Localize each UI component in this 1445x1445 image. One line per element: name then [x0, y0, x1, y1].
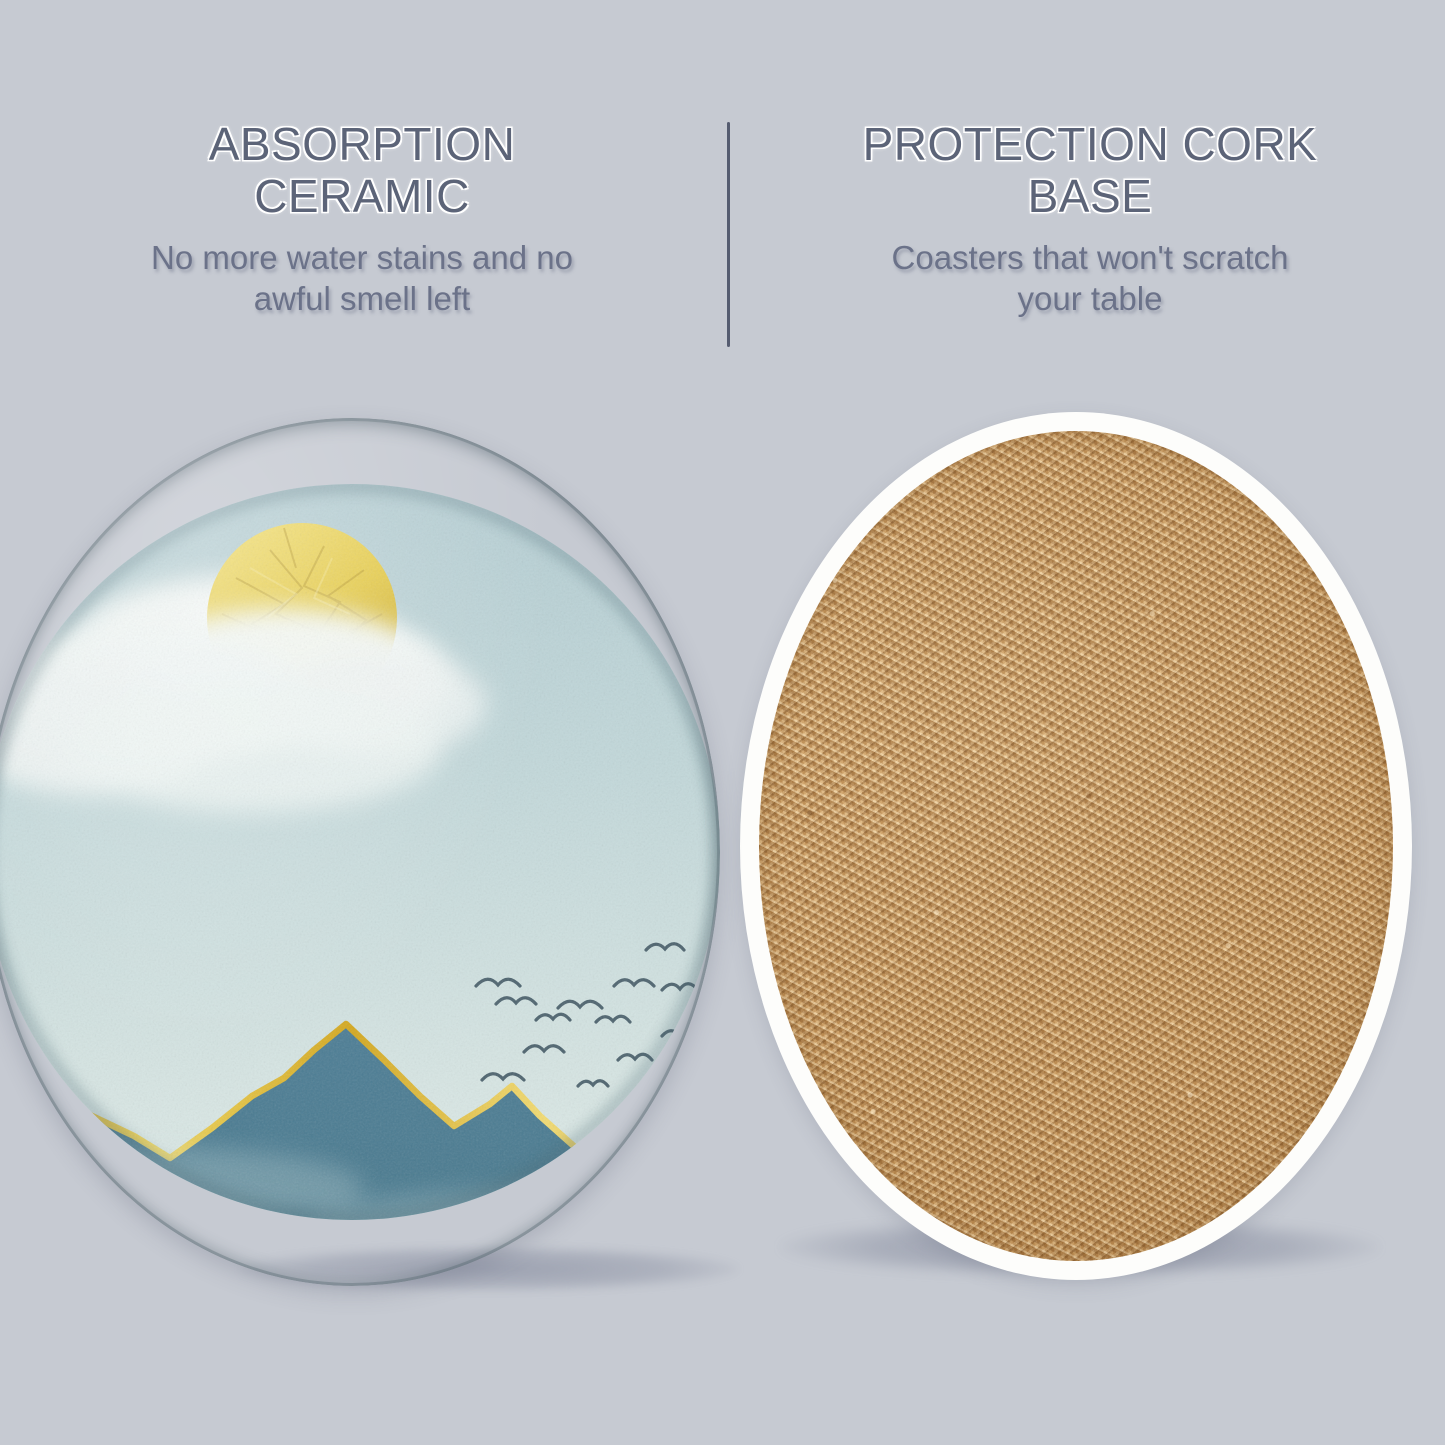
absorption-subtitle: No more water stains and no awful smell …: [62, 237, 662, 320]
vertical-divider: [727, 122, 730, 347]
protection-subtitle-line1: Coasters that won't scratch: [892, 239, 1289, 276]
ceramic-coaster-disc: [0, 418, 720, 1286]
protection-subtitle: Coasters that won't scratch your table: [790, 237, 1390, 320]
product-feature-panel: ABSORPTION CERAMIC No more water stains …: [0, 0, 1445, 1445]
artwork-clip-group: [0, 418, 720, 1286]
feature-column-protection: PROTECTION CORK BASE Coasters that won't…: [790, 118, 1390, 320]
protection-heading-line2: BASE: [1028, 170, 1153, 222]
protection-heading: PROTECTION CORK BASE: [790, 118, 1390, 223]
protection-subtitle-line2: your table: [1018, 280, 1163, 317]
absorption-subtitle-line1: No more water stains and no: [151, 239, 573, 276]
protection-heading-line1: PROTECTION CORK: [863, 118, 1318, 170]
ceramic-grain-texture: [0, 418, 720, 1286]
absorption-heading-line1: ABSORPTION: [209, 118, 516, 170]
absorption-subtitle-line2: awful smell left: [254, 280, 470, 317]
ceramic-coaster: [0, 418, 720, 1298]
mountain-landscape-artwork: [0, 418, 720, 1286]
cork-coaster: [740, 412, 1420, 1287]
header: ABSORPTION CERAMIC No more water stains …: [0, 0, 1445, 380]
absorption-heading-line2: CERAMIC: [254, 170, 470, 222]
absorption-heading: ABSORPTION CERAMIC: [62, 118, 662, 223]
cork-texture-surface: [759, 431, 1393, 1261]
feature-column-absorption: ABSORPTION CERAMIC No more water stains …: [62, 118, 662, 320]
cork-coaster-disc: [740, 412, 1412, 1280]
